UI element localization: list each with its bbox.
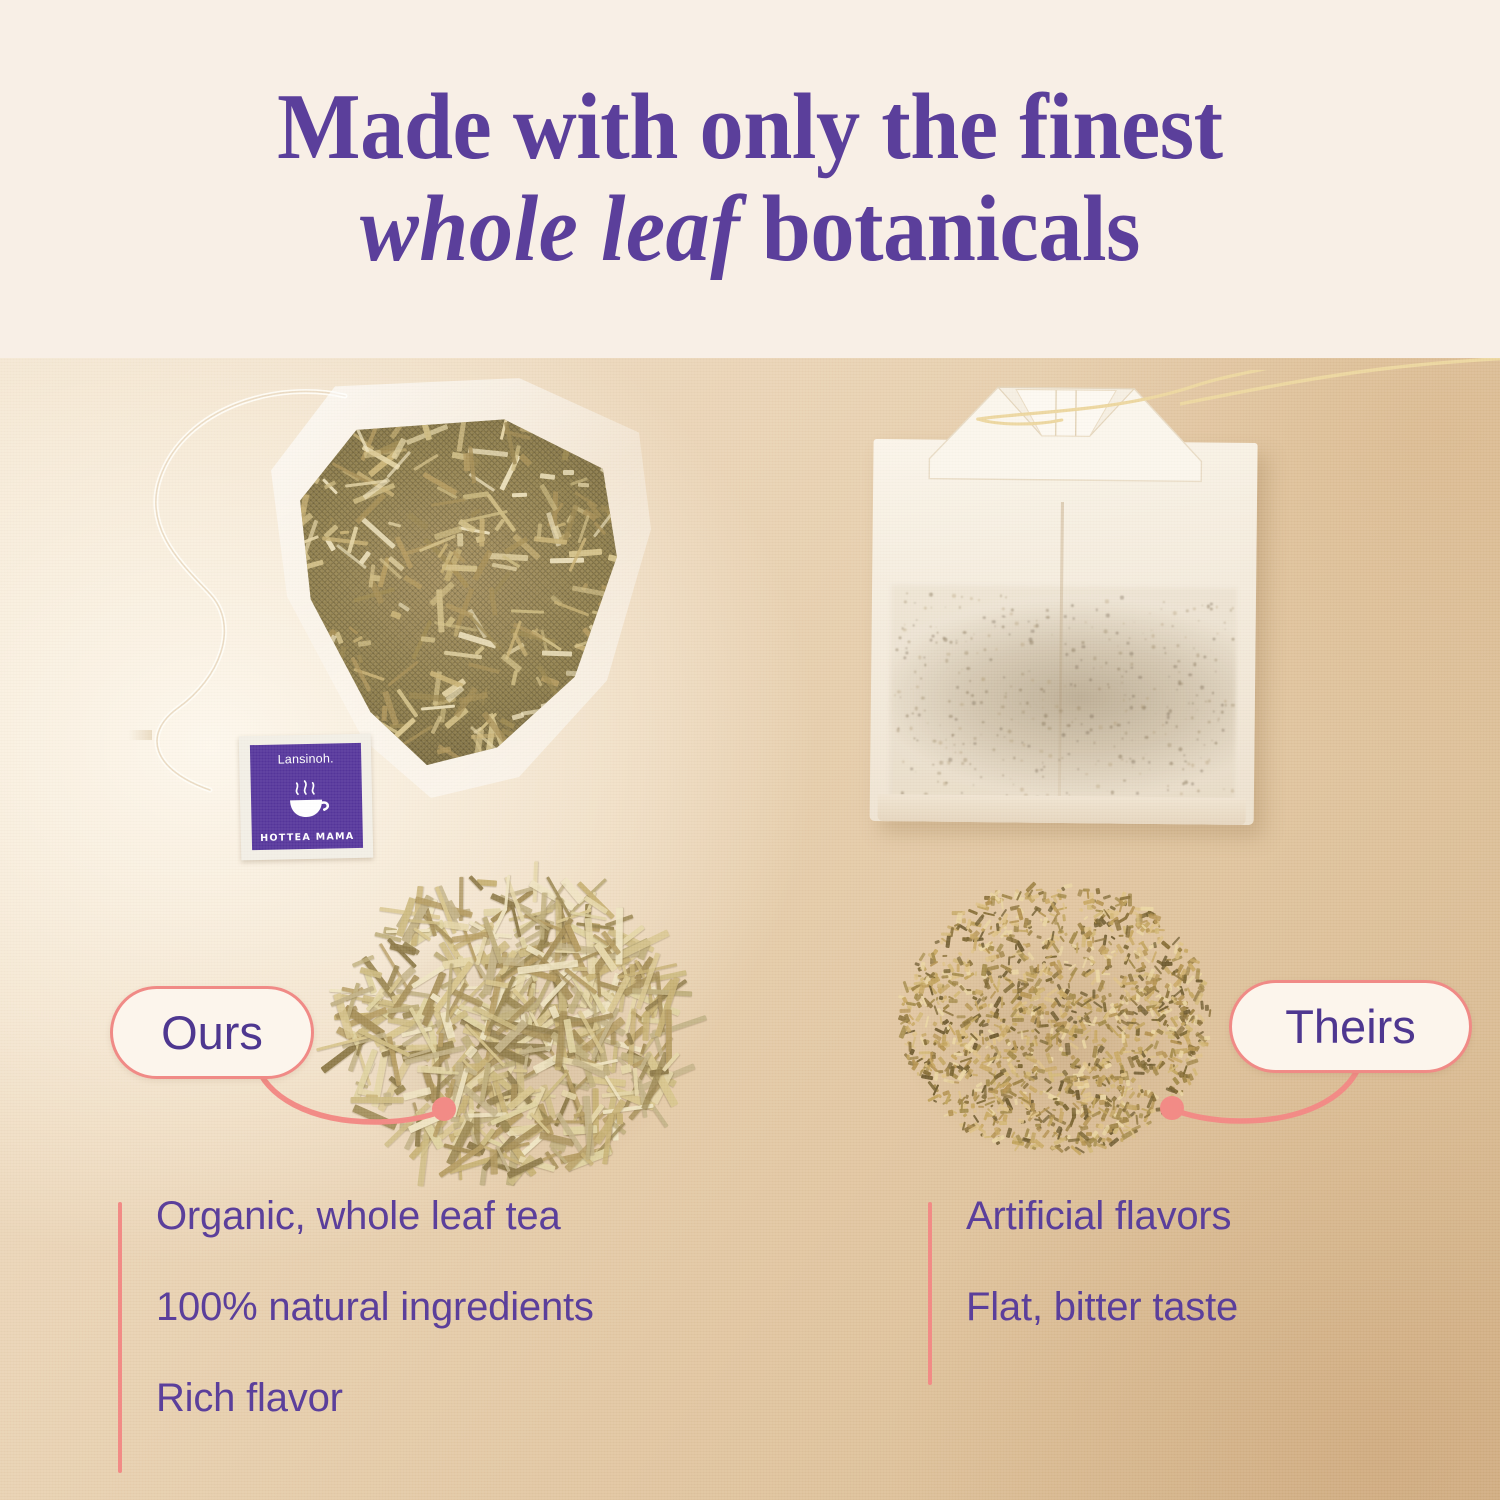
theirs-items: Artificial flavors Flat, bitter taste [928, 1196, 1238, 1327]
sub-brand-name: HOTTEA MAMA [260, 831, 354, 842]
steaming-teacup-icon [277, 778, 336, 819]
callout-theirs-label: Theirs [1285, 999, 1416, 1054]
conventional-tea-bag [862, 366, 1267, 825]
headline-line-2-rest: botanicals [740, 177, 1140, 281]
callout-ours[interactable]: Ours [110, 986, 314, 1079]
brand-tag: Lansinoh. HOTTEA MAMA [239, 734, 374, 861]
ours-accent-bar [118, 1202, 122, 1473]
list-item: Artificial flavors [966, 1196, 1238, 1236]
bag-leaf-contents [279, 416, 631, 769]
list-item: Organic, whole leaf tea [156, 1196, 594, 1236]
headline-line-2: whole leaf botanicals [360, 181, 1140, 279]
callout-theirs[interactable]: Theirs [1229, 980, 1472, 1073]
brand-tag-inner: Lansinoh. HOTTEA MAMA [250, 743, 363, 850]
ours-loose-tea-pile [330, 858, 690, 1198]
paper-bag-top-folds [864, 366, 1266, 570]
tag-string [128, 730, 152, 740]
callout-ours-label: Ours [161, 1005, 263, 1060]
paper-bag-bottom-fold [877, 794, 1246, 825]
ours-feature-list: Organic, whole leaf tea 100% natural ing… [118, 1196, 594, 1469]
product-comparison-infographic: Made with only the finest whole leaf bot… [0, 0, 1500, 1500]
theirs-feature-list: Artificial flavors Flat, bitter taste [928, 1196, 1238, 1378]
headline-line-1: Made with only the finest [277, 79, 1222, 177]
headline-emphasis: whole leaf [360, 177, 740, 281]
theirs-loose-tea-pile [890, 868, 1220, 1168]
list-item: Flat, bitter taste [966, 1287, 1238, 1327]
theirs-accent-bar [928, 1202, 932, 1385]
list-item: Rich flavor [156, 1378, 594, 1418]
ours-items: Organic, whole leaf tea 100% natural ing… [118, 1196, 594, 1418]
header-banner: Made with only the finest whole leaf bot… [0, 0, 1500, 358]
brand-name: Lansinoh. [278, 752, 334, 766]
list-item: 100% natural ingredients [156, 1287, 594, 1327]
